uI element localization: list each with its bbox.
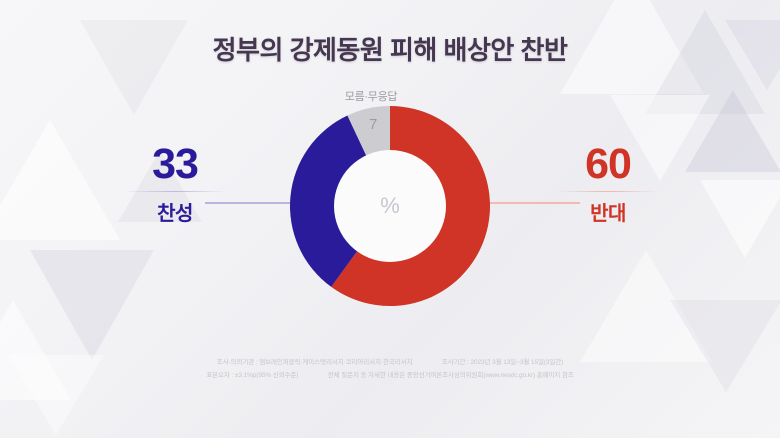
donut-center-unit: % <box>290 106 490 306</box>
footer-period: 조사기간 : 2023년 3월 13일~3월 15일(3일간) <box>442 359 563 366</box>
infographic-canvas: 정부의 강제동원 피해 배상안 찬반 모름·무응답 % 7 33 찬성 60 반… <box>0 0 780 438</box>
footer-line-2: 표본오차 : ±3.1%p(95% 신뢰수준) 전체 질문지 등 자세한 내용은… <box>0 370 780 383</box>
callout-left: 33 찬성 <box>100 143 250 226</box>
footer-line-1: 조사·의뢰기관 : 엠브레인퍼블릭·케이스탯리서치·코리아리서치·한국리서치 조… <box>0 357 780 370</box>
footer-notes: 조사·의뢰기관 : 엠브레인퍼블릭·케이스탯리서치·코리아리서치·한국리서치 조… <box>0 357 780 382</box>
footer-margin-of-error: 표본오차 : ±3.1%p(95% 신뢰수준) <box>206 372 298 379</box>
decorative-triangle <box>700 180 780 258</box>
decorative-triangle <box>685 90 780 172</box>
segment-label-etc: 모름·무응답 <box>316 88 426 104</box>
donut-chart: % <box>290 106 490 306</box>
callout-right-divider <box>556 191 660 192</box>
callout-left-value: 33 <box>100 143 250 187</box>
callout-right-label: 반대 <box>533 197 683 226</box>
decorative-triangle <box>0 300 71 400</box>
decorative-triangle <box>30 250 154 360</box>
segment-value-etc: 7 <box>369 116 377 133</box>
footer-agency: 조사·의뢰기관 : 엠브레인퍼블릭·케이스탯리서치·코리아리서치·한국리서치 <box>217 359 413 366</box>
callout-right-value: 60 <box>533 143 683 187</box>
page-title: 정부의 강제동원 피해 배상안 찬반 <box>0 30 780 67</box>
callout-left-divider <box>123 191 227 192</box>
callout-left-label: 찬성 <box>100 197 250 226</box>
decorative-triangle <box>580 250 712 362</box>
footer-reference: 전체 질문지 등 자세한 내용은 중앙선거여론조사심의위원회(www.nesdc… <box>328 372 574 379</box>
callout-right: 60 반대 <box>533 143 683 226</box>
